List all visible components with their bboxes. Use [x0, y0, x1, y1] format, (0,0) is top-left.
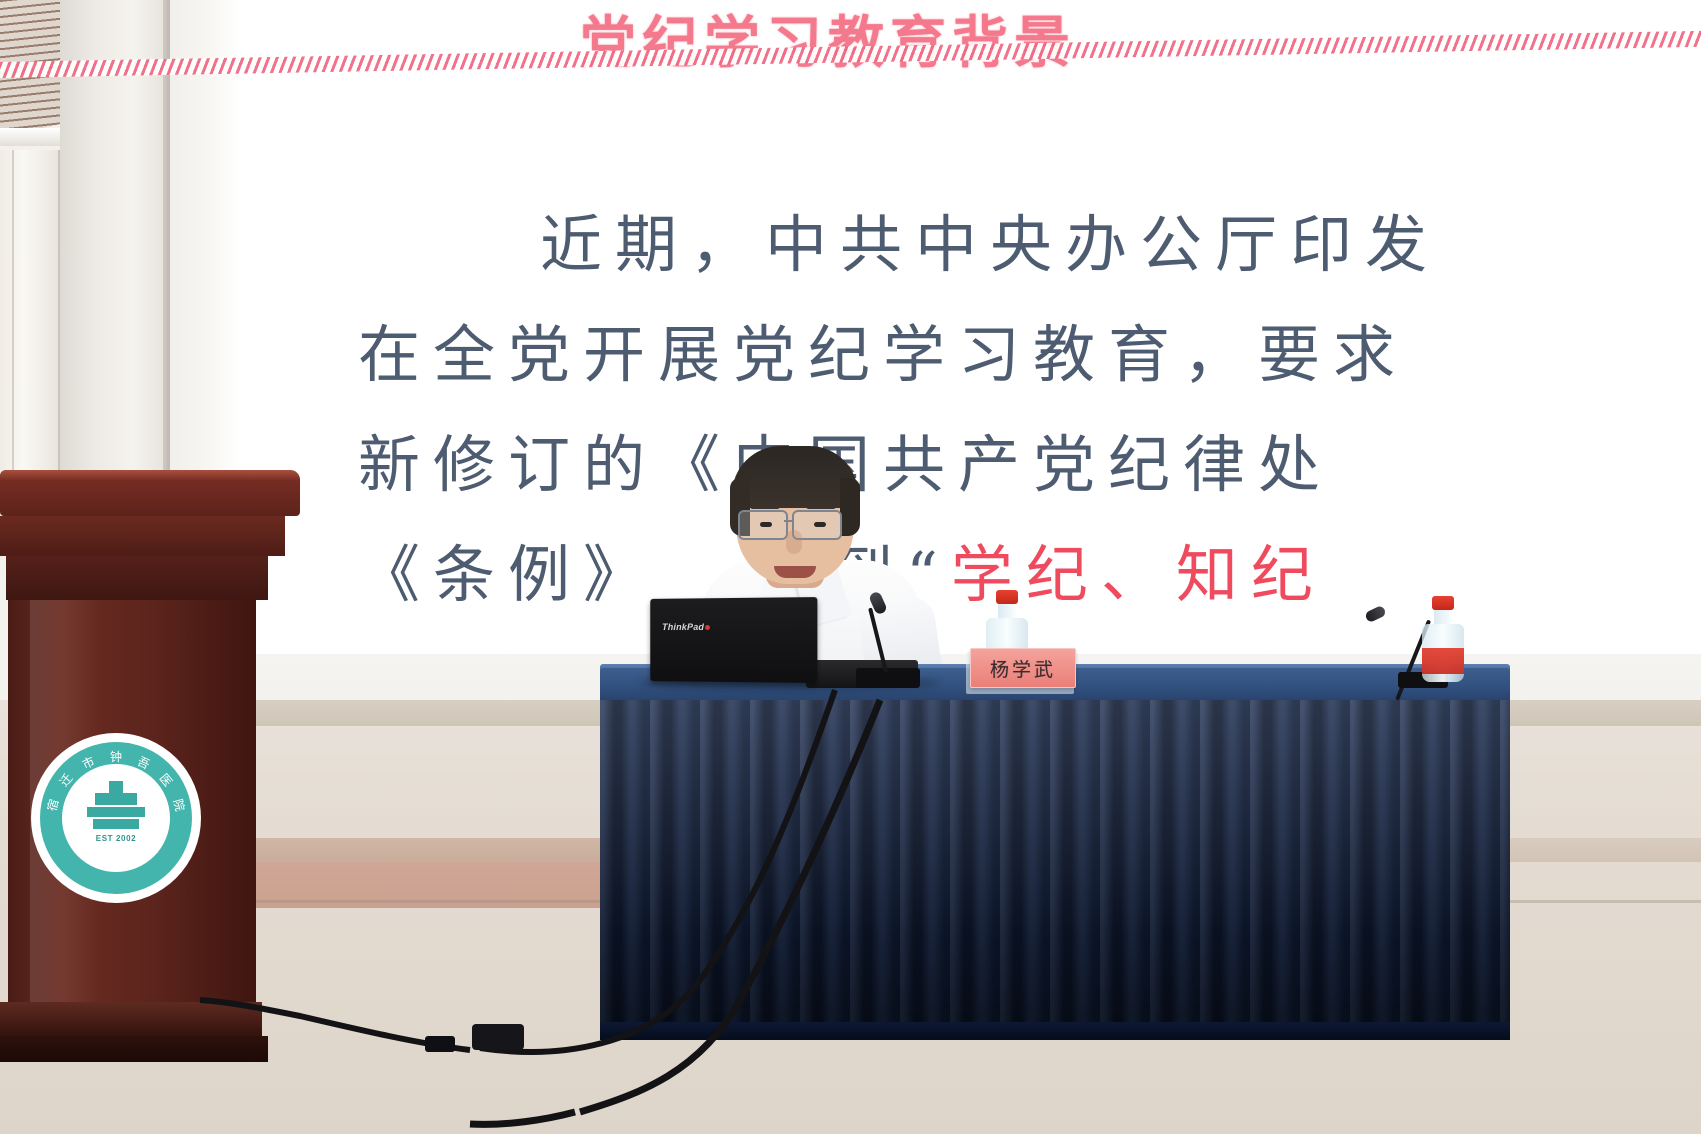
slide-line-2: 在全党开展党纪学习教育，要求: [358, 300, 1701, 410]
podium-top-highlight: [0, 470, 300, 480]
slide-line-3: 新修订的《中国共产党纪律处: [358, 410, 1701, 520]
slide-line-1: 近期，中共中央办公厅印发: [358, 190, 1701, 300]
cable-plug-small: [425, 1036, 455, 1052]
eye-right: [814, 522, 826, 527]
slide-body: 近期，中共中央办公厅印发 在全党开展党纪学习教育，要求 新修订的《中国共产党纪律…: [358, 190, 1701, 630]
eyebrow-right: [806, 504, 836, 509]
cable-main: [580, 700, 880, 1112]
podium-neck: [6, 556, 268, 600]
bottle-cap-left: [996, 590, 1018, 604]
cable-plug-large: [472, 1024, 524, 1050]
window-sill: [0, 128, 60, 146]
bottle-cap-right: [1432, 596, 1454, 610]
mouth: [774, 566, 816, 578]
podium-slab: [0, 516, 285, 556]
projected-slide: 党纪学习教育背景 近期，中共中央办公厅印发 在全党开展党纪学习教育，要求 新修订…: [238, 0, 1701, 654]
nose: [786, 530, 802, 554]
cable-secondary: [480, 690, 835, 1052]
cable-group: [0, 620, 1701, 1134]
slide-line-4: 《条例》 做到“学纪、知纪: [358, 520, 1701, 630]
lecture-hall-photo: 党纪学习教育背景 近期，中共中央办公厅印发 在全党开展党纪学习教育，要求 新修订…: [0, 0, 1701, 1134]
eyebrow-left: [750, 504, 780, 509]
glasses-bridge: [784, 520, 794, 522]
cable-tail: [470, 1112, 575, 1124]
slide-line-4-head: 《条例》: [358, 538, 658, 611]
eye-left: [760, 522, 772, 527]
